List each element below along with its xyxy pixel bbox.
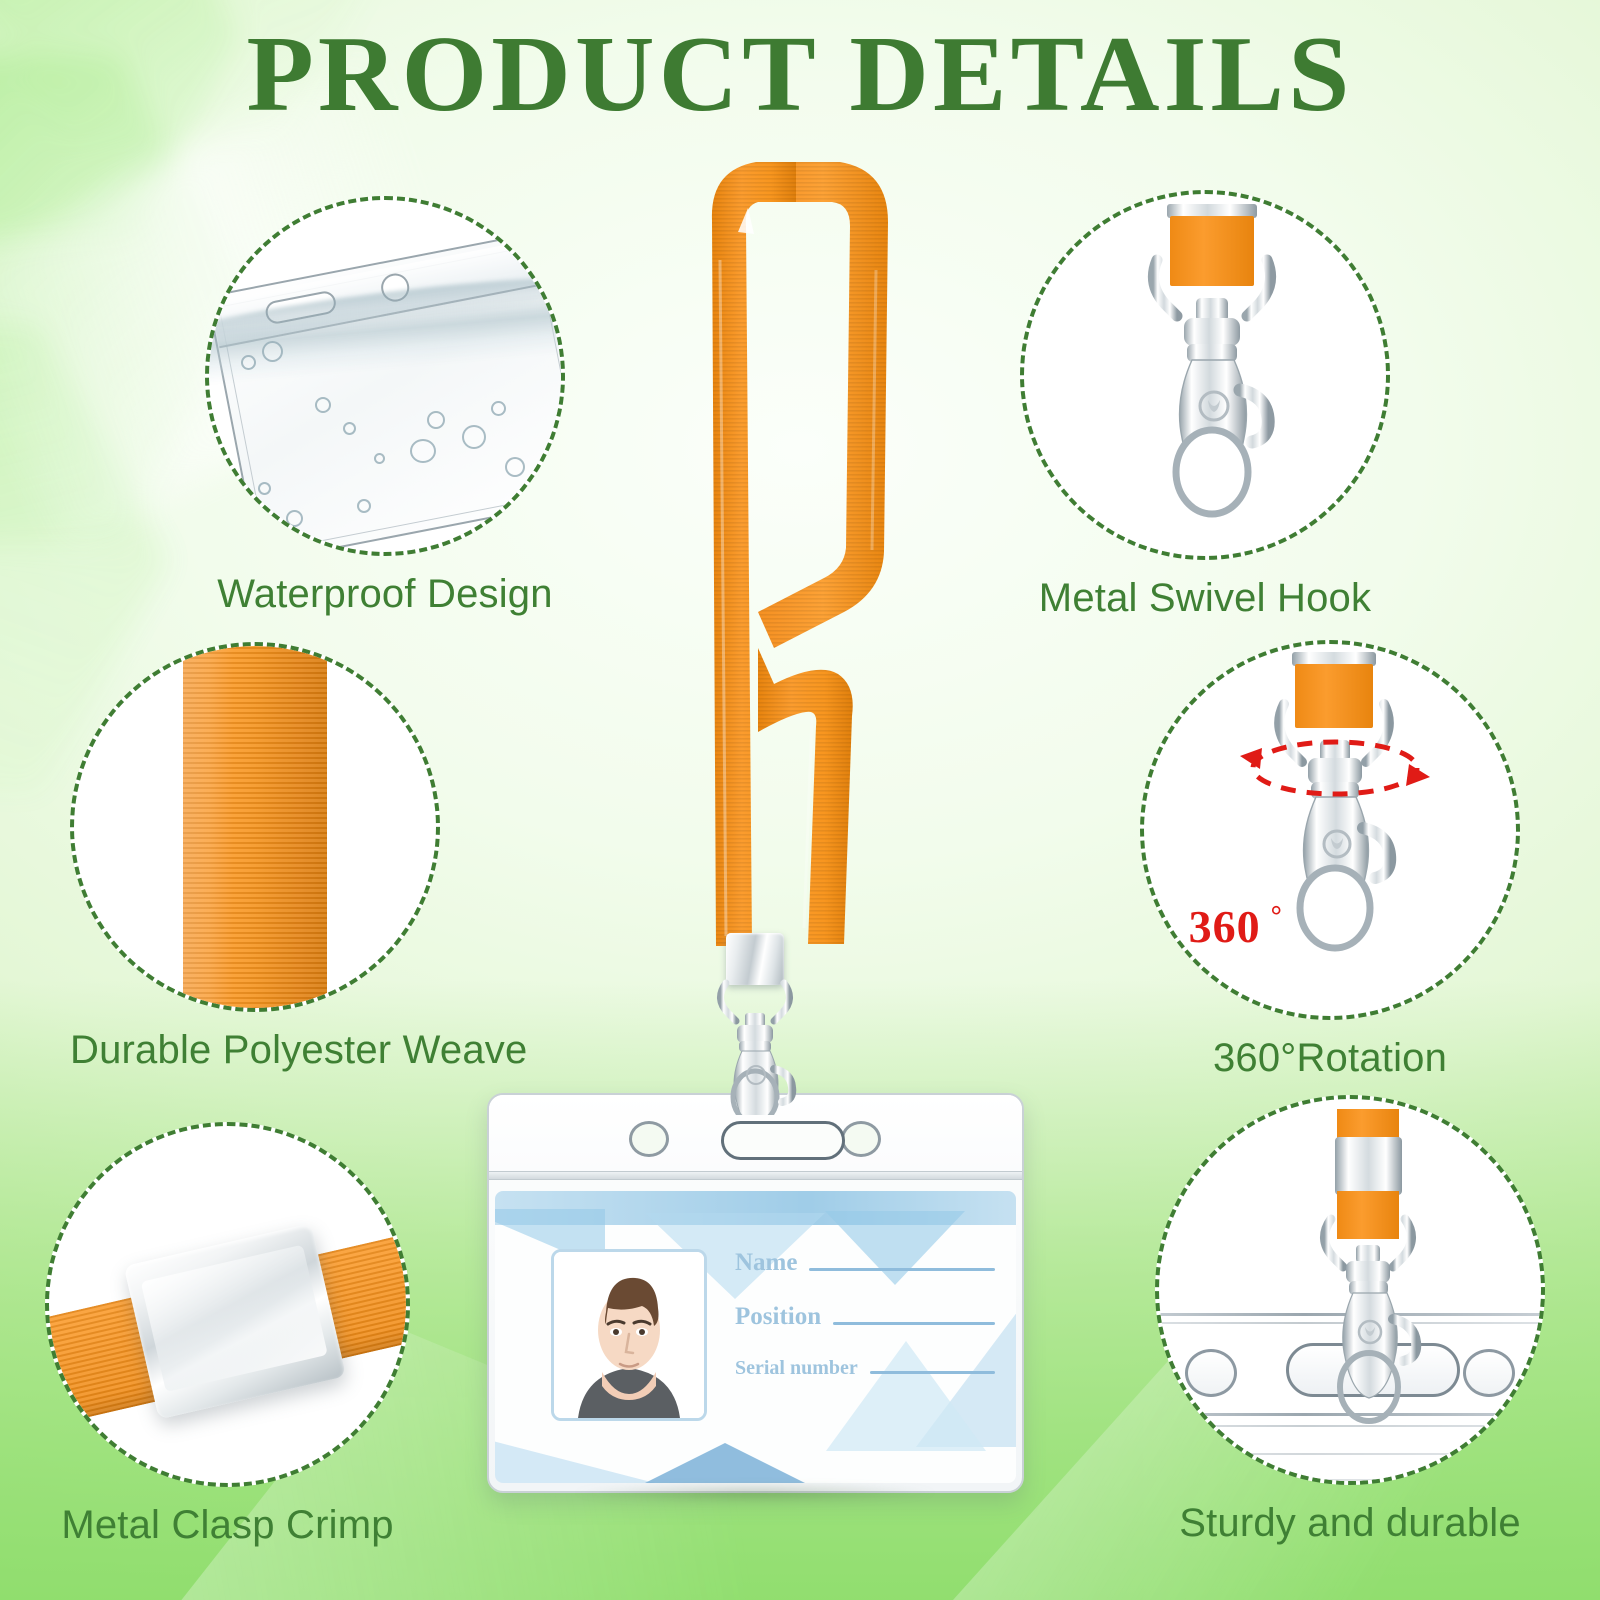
- field-line-position: [833, 1322, 995, 1325]
- feature-sturdy: Sturdy and durable: [1155, 1095, 1545, 1546]
- card-hole-left: [629, 1121, 669, 1157]
- field-label-position: Position: [735, 1303, 821, 1331]
- degree-symbol: °: [1271, 901, 1283, 932]
- feature-waterproof: Waterproof Design: [205, 196, 565, 617]
- field-position: Position: [735, 1303, 995, 1331]
- swivel-hook-image-circle: [1020, 190, 1390, 560]
- sturdy-image-circle: [1155, 1095, 1545, 1485]
- field-serial-number: Serial number: [735, 1357, 995, 1380]
- feature-clasp-crimp: Metal Clasp Crimp: [45, 1122, 410, 1548]
- infographic-canvas: PRODUCT DETAILS: [0, 0, 1600, 1600]
- rotation-value: 360: [1189, 901, 1261, 952]
- crimp-clamp-icon: [49, 1126, 406, 1483]
- center-swivel-hook: [690, 975, 820, 1115]
- badge-shadow: [500, 1484, 1010, 1506]
- feature-label-clasp-crimp: Metal Clasp Crimp: [45, 1503, 410, 1548]
- feature-label-swivel-hook: Metal Swivel Hook: [1020, 576, 1390, 621]
- clasp-crimp-image-circle: [45, 1122, 410, 1487]
- feature-label-weave: Durable Polyester Weave: [70, 1028, 440, 1073]
- weave-image-circle: [70, 642, 440, 1012]
- webbing-strap-icon: [74, 646, 436, 1008]
- card-hole-right: [841, 1121, 881, 1157]
- field-line-serial-number: [870, 1371, 995, 1374]
- feature-label-waterproof: Waterproof Design: [205, 572, 565, 617]
- card-holder-edge-icon: [1159, 1099, 1541, 1481]
- feature-rotation: 360° 360°Rotation: [1140, 640, 1520, 1081]
- waterproof-image-circle: [205, 196, 565, 556]
- lobster-clasp-icon: [1024, 194, 1386, 556]
- water-drop-icon: [209, 200, 561, 552]
- feature-label-sturdy: Sturdy and durable: [1155, 1501, 1545, 1546]
- field-label-name: Name: [735, 1249, 797, 1277]
- card-triangle-7: [645, 1443, 805, 1483]
- id-card-fields: Name Position Serial number: [735, 1249, 995, 1406]
- feature-swivel-hook: Metal Swivel Hook: [1020, 190, 1390, 621]
- rotation-image-circle: 360°: [1140, 640, 1520, 1020]
- lanyard-strap: [640, 150, 960, 990]
- id-card-holder: Name Position Serial number: [487, 1093, 1024, 1493]
- feature-weave: Durable Polyester Weave: [70, 642, 440, 1073]
- rotation-annotation: 360°: [1189, 900, 1283, 953]
- page-title: PRODUCT DETAILS: [0, 18, 1600, 131]
- avatar: [551, 1249, 707, 1421]
- id-card-face: Name Position Serial number: [495, 1191, 1016, 1483]
- feature-label-rotation: 360°Rotation: [1140, 1036, 1520, 1081]
- field-name: Name: [735, 1249, 995, 1277]
- rotation-icon: 360°: [1144, 644, 1516, 1016]
- card-triangle-6: [495, 1439, 655, 1483]
- field-line-name: [809, 1268, 995, 1271]
- field-label-serial-number: Serial number: [735, 1357, 858, 1380]
- card-slot-center: [721, 1121, 845, 1160]
